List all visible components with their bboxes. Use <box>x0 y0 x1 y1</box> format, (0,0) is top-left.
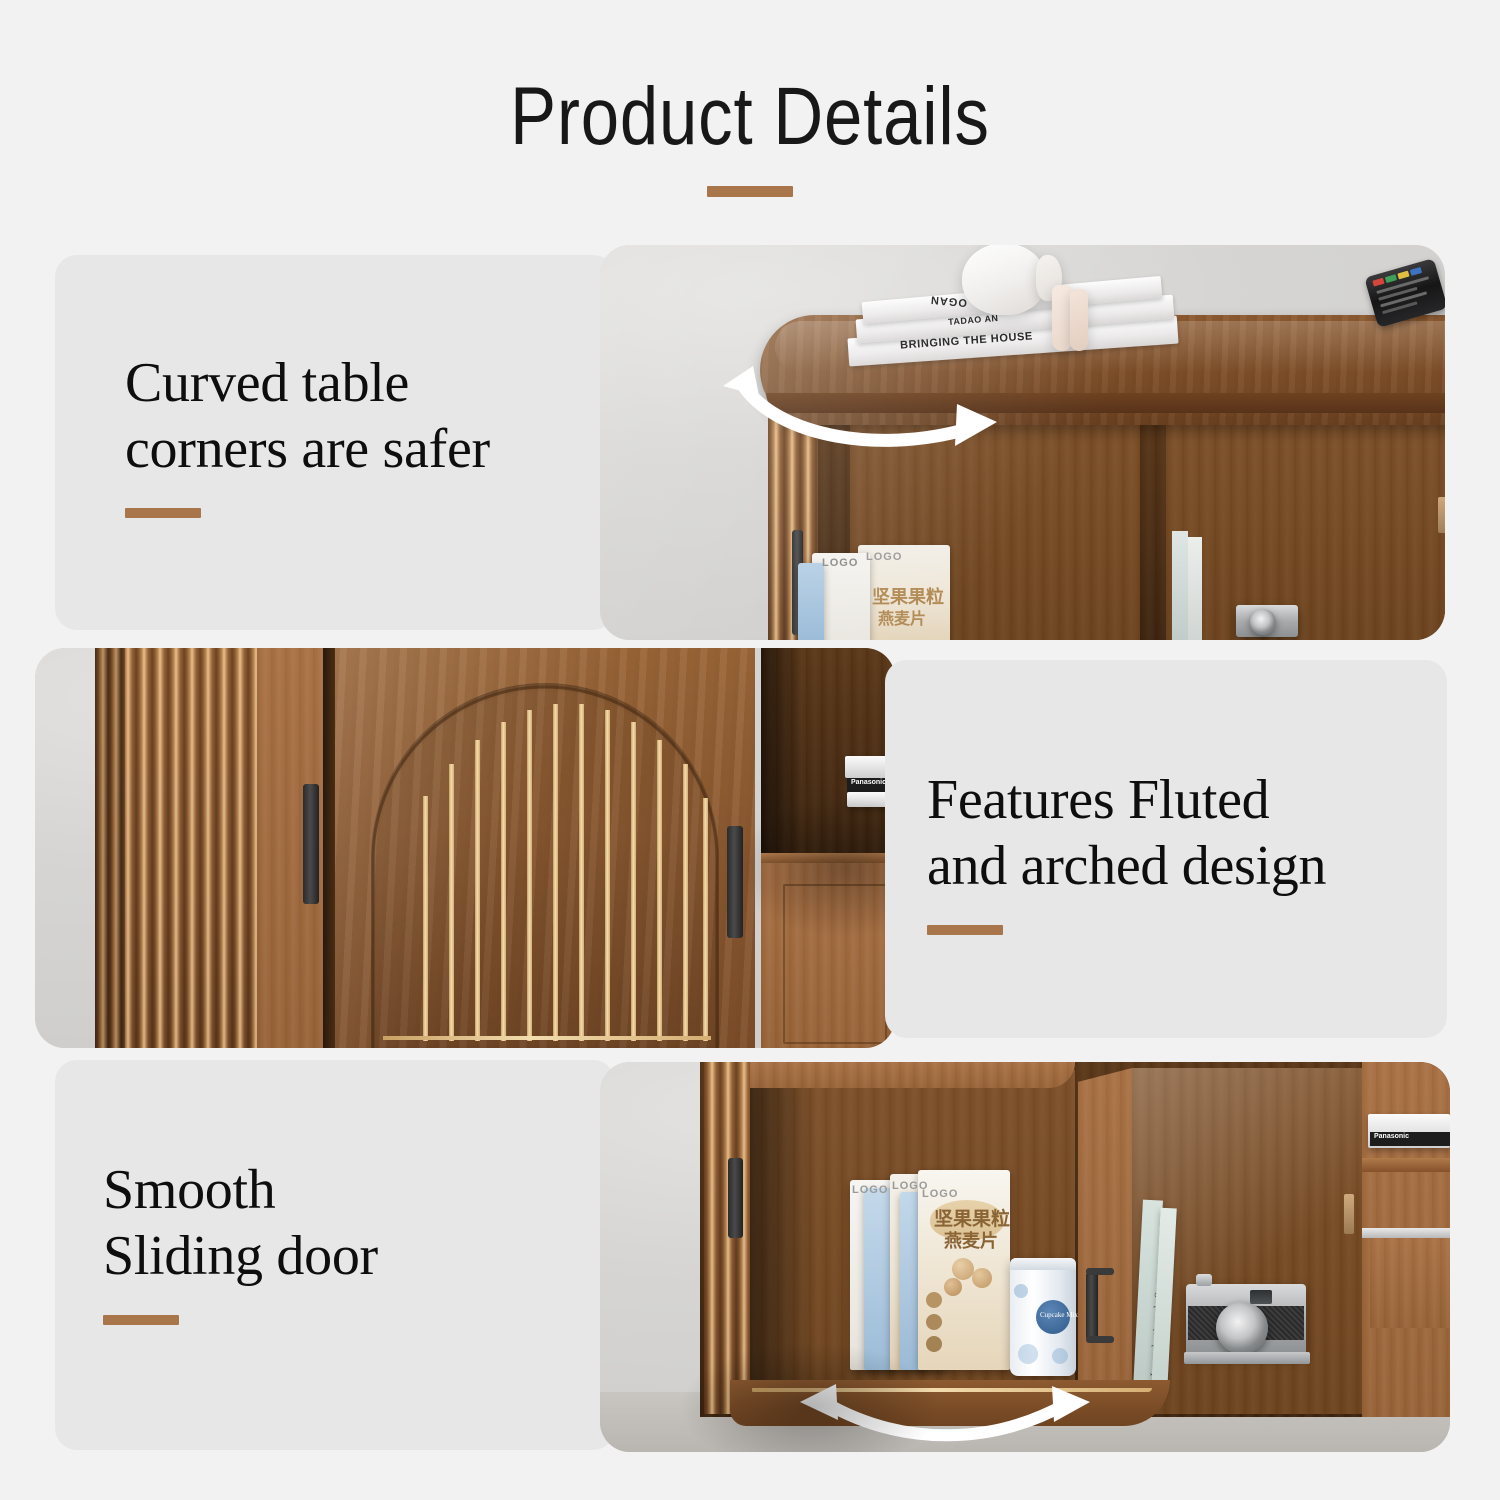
remote-button-blue <box>1410 267 1422 276</box>
feature-title-line1: Features Fluted <box>927 768 1326 834</box>
fluted-door-handle <box>303 784 319 904</box>
left-bay-shadow <box>745 1070 815 1410</box>
cabinet-divider <box>1140 395 1166 640</box>
book-spine <box>1188 537 1202 640</box>
gold-inlay <box>683 764 688 1041</box>
canister-bubble <box>1052 1348 1068 1364</box>
vintage-camera-viewfinder <box>1250 1290 1272 1304</box>
pouch-chinese-label: 燕麦片 <box>878 605 926 629</box>
page-header: Product Details <box>0 76 1500 197</box>
door-gap-shadow <box>323 648 335 1048</box>
pouch-logo-label: LOGO <box>866 551 902 563</box>
drawer-slide <box>1362 1228 1450 1238</box>
gold-inlay <box>657 740 662 1041</box>
cabinet-latch <box>1438 497 1445 533</box>
canister-bubble <box>1014 1284 1028 1298</box>
gold-inlay <box>449 764 454 1041</box>
remote-button-green <box>1385 274 1397 283</box>
pouch-nut-graphic <box>944 1278 962 1296</box>
pouch-badge <box>926 1292 942 1308</box>
feature-title-line1: Smooth <box>103 1158 378 1224</box>
open-door-handle <box>1086 1272 1098 1340</box>
cabinet-top-inner <box>745 1062 1075 1088</box>
curved-double-arrow-icon <box>705 360 1005 470</box>
ceramic-figurine-leg-right <box>1070 289 1088 351</box>
shelf-inner-shadow <box>761 648 801 853</box>
pouch-logo-label: LOGO <box>822 557 858 569</box>
sliding-fluted-door <box>704 1062 750 1414</box>
gold-inlay <box>423 796 428 1041</box>
feature-photo-sliding-door: LOGO LOGO LOGO 坚果果粒 燕麦片 Cupcake Mix Los … <box>600 1062 1450 1452</box>
feature-text-panel-sliding-door: Smooth Sliding door <box>55 1060 615 1450</box>
ceramic-figurine-head <box>962 245 1046 315</box>
feature-title-line2: Sliding door <box>103 1224 378 1290</box>
feature-photo-curved-corners: BRINGING THE HOUSE TADAO AN OGAN LOGO LO… <box>600 245 1445 640</box>
book-spine <box>1172 531 1188 640</box>
page-title: Product Details <box>120 76 1380 158</box>
feature-text-panel-fluted-arched: Features Fluted and arched design <box>885 660 1447 1038</box>
gold-inlay <box>631 722 636 1041</box>
vintage-camera-winder <box>1196 1274 1212 1286</box>
pouch-nut-graphic <box>952 1258 974 1280</box>
gold-inlay <box>579 704 584 1041</box>
fluted-door-curved-return <box>95 648 125 1048</box>
open-door-handle-post-bottom <box>1086 1336 1114 1343</box>
shelf-board <box>1362 1158 1450 1172</box>
feature-title-line2: and arched design <box>927 834 1326 900</box>
cabinet-latch <box>1344 1194 1354 1234</box>
gold-inlay <box>605 710 610 1041</box>
panasonic-brand-label: Panasonic <box>851 779 886 786</box>
gold-inlay-baseline <box>383 1036 711 1040</box>
feature-text-panel-curved-corners: Curved table corners are safer <box>55 255 615 630</box>
remote-button-yellow <box>1397 271 1409 280</box>
feature-accent-bar <box>125 508 201 518</box>
open-drawer <box>1370 1238 1450 1328</box>
remote-button-red <box>1372 278 1384 287</box>
sliding-double-arrow-icon <box>790 1380 1100 1452</box>
feature-title-line1: Curved table <box>125 351 490 417</box>
pouch-nut-graphic <box>972 1268 992 1288</box>
product-details-page: Product Details Curved table corners are… <box>0 0 1500 1500</box>
gold-inlay <box>501 722 506 1041</box>
drawer-inset-frame <box>783 884 887 1044</box>
prop-lens <box>1250 609 1276 635</box>
feature-accent-bar <box>927 925 1003 935</box>
snack-pouch-blue <box>798 563 824 640</box>
vintage-camera-lens <box>1216 1302 1268 1354</box>
canister-label: Cupcake Mix <box>1040 1311 1078 1319</box>
pouch-logo-label: LOGO <box>852 1184 888 1196</box>
title-accent-bar <box>707 186 793 197</box>
vintage-camera-base <box>1184 1352 1310 1364</box>
pouch-logo-label: LOGO <box>922 1188 958 1200</box>
feature-title-line2: corners are safer <box>125 417 490 483</box>
canister-bubble <box>1018 1344 1038 1364</box>
gold-inlay <box>703 798 708 1041</box>
drawer-top-edge <box>761 853 895 863</box>
sliding-door-handle <box>728 1158 743 1238</box>
panasonic-brand-label: Panasonic <box>1374 1133 1409 1140</box>
cabinet-open-door-leaf <box>1078 1068 1132 1414</box>
cabinet-right-bay <box>1166 405 1445 640</box>
canister-lid <box>1010 1258 1076 1270</box>
pouch-badge <box>926 1336 942 1352</box>
open-door-handle-post-top <box>1086 1268 1114 1275</box>
feature-accent-bar <box>103 1315 179 1325</box>
gold-inlay <box>553 704 558 1041</box>
feature-photo-fluted-arched: Panasonic <box>35 648 895 1048</box>
pouch-badge <box>926 1314 942 1330</box>
pouch-chinese-label-bottom: 燕麦片 <box>944 1227 998 1253</box>
ceramic-figurine-leg-left <box>1052 285 1072 351</box>
gold-inlay <box>475 740 480 1041</box>
arched-door-handle <box>727 826 743 938</box>
gold-inlay <box>527 710 532 1041</box>
